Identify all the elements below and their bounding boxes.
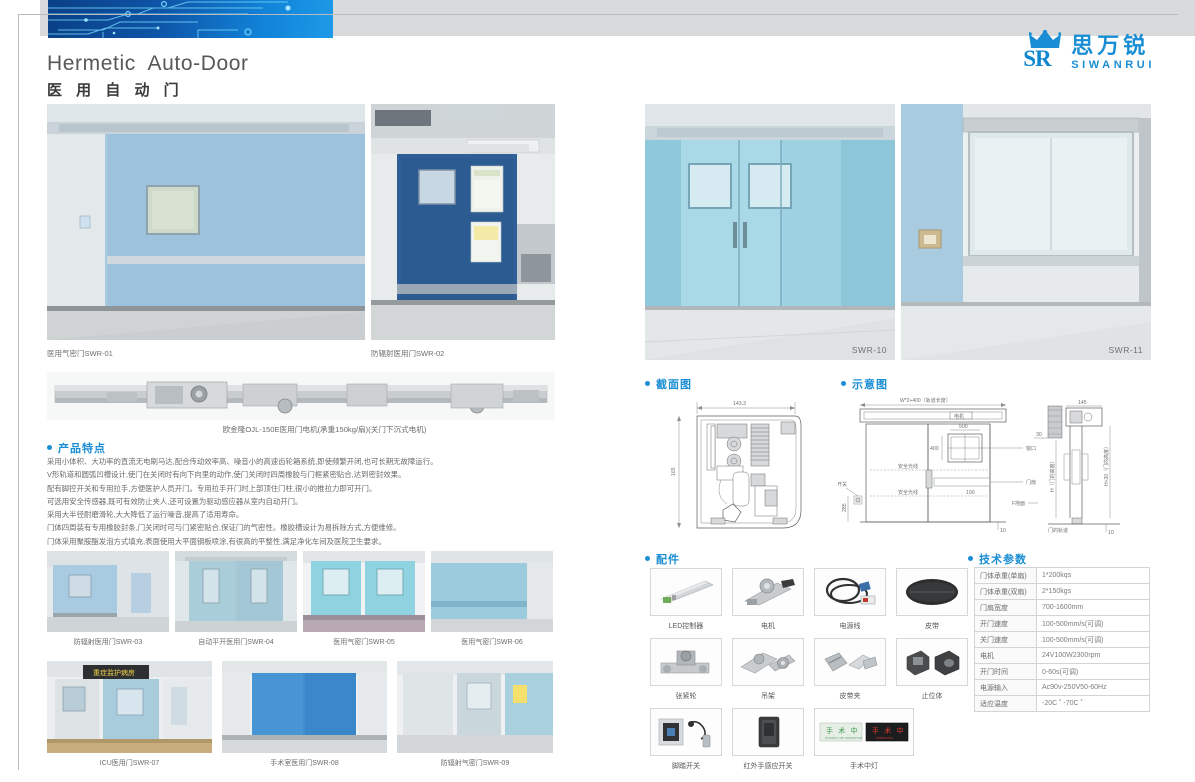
spec-value: -20C ˚ -70C ˚ — [1037, 696, 1150, 712]
photo-caption-swr-06: 医用气密门SWR-06 — [431, 637, 553, 647]
floor-groove-label: F地面 — [1012, 500, 1025, 507]
accessory-item-operating-lamp: 手 术 中 DURING THE OPERATION 手 术 中 OPERATI… — [814, 708, 914, 771]
accessory-item-power-cable: 电源线 — [814, 568, 886, 631]
tension-wheel-icon — [650, 638, 722, 686]
spec-value: Ac90v-250V50-60Hz — [1037, 680, 1150, 696]
detail-height-h: H（门的高度） — [1049, 458, 1056, 492]
operating-lamp-icon: 手 术 中 DURING THE OPERATION 手 术 中 OPERATI… — [814, 708, 914, 756]
spec-key: 适应温度 — [975, 696, 1037, 712]
accessory-item-motor: 电机 — [732, 568, 804, 631]
page-title-chinese: 医 用 自 动 门 — [47, 79, 184, 100]
dim-width-label: 143.3 — [733, 401, 746, 407]
logo-name-chinese: 思万锐 — [1071, 35, 1155, 57]
features-list: 采用小体积、大功率的直流无电刷马达,配合传动效率高、噪音小的高速齿轮箱系统,即使… — [47, 455, 592, 548]
belt-clamp-icon — [814, 638, 886, 686]
hanger-icon — [732, 638, 804, 686]
dim-500: 500 — [959, 424, 968, 430]
track-length-label: W*2+400（轨道长度） — [900, 397, 951, 404]
spec-value: 24V100W2300rpm — [1037, 648, 1150, 664]
lamp-red-sub: OPERATING — [876, 736, 894, 740]
motor-caption: 欧金隆OJL-150E医用门电机(承重150kg/扇)(关门下沉式电机) — [47, 424, 602, 435]
detail-dim-10: 10 — [1108, 530, 1114, 536]
accessory-item-foot-switch: 脚踏开关 — [650, 708, 722, 771]
door-panel-label: 门扇 — [1026, 479, 1036, 486]
accessory-label: 张紧轮 — [650, 691, 722, 701]
spec-key: 关门速度 — [975, 632, 1037, 648]
spec-value: 100-500mm/s(可调) — [1037, 616, 1150, 632]
photo-motor-assembly — [47, 372, 555, 420]
table-row: 门体承重(双扇) 2*150kgs — [975, 584, 1150, 600]
foot-sensor-label: 脚感应开关 — [838, 481, 847, 488]
photo-caption-swr-04: 自动平开医用门SWR-04 — [175, 637, 297, 647]
circuit-pattern-graphic — [48, 0, 333, 38]
accessories-heading: 配件 — [645, 551, 680, 567]
accessory-item-belt-clamp: 皮带夹 — [814, 638, 886, 701]
accessory-label: 红外手感应开关 — [732, 761, 804, 771]
accessory-item-belt: 皮带 — [896, 568, 968, 631]
spec-value: 100-500mm/s(可调) — [1037, 632, 1150, 648]
feature-line: 配有脚控开关和专用拉手,方便医护人员开门。专用拉手开门时上部顶住门柱,很小的推拉… — [47, 482, 592, 495]
dim-height-label: 165 — [671, 467, 677, 476]
features-heading: 产品特点 — [47, 440, 106, 456]
svg-text:重症监护病房: 重症监护病房 — [93, 668, 135, 677]
spec-key: 开门时间 — [975, 664, 1037, 680]
photo-swr-02 — [371, 104, 555, 340]
photo-caption-swr-03: 防辐射医用门SWR-03 — [47, 637, 169, 647]
section-drawing-heading: 截面图 — [645, 376, 692, 392]
photo-swr-04 — [175, 551, 297, 632]
feature-line: 采用小体积、大功率的直流无电刷马达,配合传动效率高、噪音小的高速齿轮箱系统,即使… — [47, 455, 592, 468]
logo-name-pinyin: SIWANRUI — [1071, 60, 1155, 71]
schematic-drawing-heading: 示意图 — [841, 376, 888, 392]
spec-key: 电机 — [975, 648, 1037, 664]
photo-caption-swr-05: 医用气密门SWR-05 — [303, 637, 425, 647]
photo-caption-swr-09: 防辐射气密门SWR-09 — [397, 758, 553, 768]
spec-value: 700-1600mm — [1037, 600, 1150, 616]
motor-icon — [732, 568, 804, 616]
photo-caption-swr-07: ICU医用门SWR-07 — [47, 758, 212, 768]
schematic-drawing: W*2+400（轨道长度） 电机 500 400 窗口 门扇 190 安全光线 … — [838, 392, 1158, 542]
accessory-label: LED控制器 — [650, 621, 722, 631]
table-row: 开门时间 0-60s(可调) — [975, 664, 1150, 680]
photo-swr-06 — [431, 551, 553, 632]
top-decorative-band — [0, 0, 1195, 38]
accessory-label: 手术中灯 — [814, 761, 914, 771]
accessory-label: 皮带夹 — [814, 691, 886, 701]
company-logo: SR 思万锐 SIWANRUI — [1023, 30, 1155, 72]
table-row: 电源输入 Ac90v-250V50-60Hz — [975, 680, 1150, 696]
specs-table: 门体承重(单扇) 1*200kqs 门体承重(双扇) 2*150kgs 门扇宽度… — [974, 567, 1150, 712]
photo-swr-05 — [303, 551, 425, 632]
photo-swr-10: SWR-10 — [645, 104, 895, 360]
table-row: 门体承重(单扇) 1*200kqs — [975, 568, 1150, 584]
infrared-switch-icon — [732, 708, 804, 756]
table-row: 门扇宽度 700-1600mm — [975, 600, 1150, 616]
spec-key: 门扇宽度 — [975, 600, 1037, 616]
spec-key: 门体承重(单扇) — [975, 568, 1037, 584]
accessory-label: 电机 — [732, 621, 804, 631]
spec-key: 电源输入 — [975, 680, 1037, 696]
page-title-english: Hermetic Auto-Door — [47, 52, 249, 76]
table-row: 开门速度 100-500mm/s(可调) — [975, 616, 1150, 632]
photo-caption-swr-02: 防辐射医用门SWR-02 — [371, 348, 444, 359]
spec-value: 1*200kqs — [1037, 568, 1150, 584]
dim-10: 10 — [1000, 528, 1006, 534]
accessory-label: 吊架 — [732, 691, 804, 701]
power-cable-icon — [814, 568, 886, 616]
detail-height-h30: H+30（门的高度） — [1103, 444, 1110, 486]
photo-swr-01 — [47, 104, 365, 340]
feature-line: 采用大半径耐磨滑轮,大大降低了运行噪音,提高了适用寿命。 — [47, 508, 592, 521]
photo-swr-07: 重症监护病房 — [47, 661, 212, 753]
feature-line: 门体采用聚胺酯发泡方式填充,表面使用大平面钢板喷涂,有很高的平整性,满足净化车间… — [47, 535, 592, 548]
lamp-red-text: 手 术 中 — [872, 726, 905, 735]
foot-switch-icon — [650, 708, 722, 756]
feature-line: V形轨道和圆弧凹槽设计,使门在关闭时有向下向里的动作,使门关闭时四周橡胶与门框紧… — [47, 468, 592, 481]
detail-dim-145: 145 — [1078, 400, 1087, 406]
accessory-item-hanger: 吊架 — [732, 638, 804, 701]
accessory-label: 脚踏开关 — [650, 761, 722, 771]
lamp-green-text: 手 术 中 — [826, 726, 859, 735]
dim-190: 190 — [966, 490, 975, 496]
table-row: 适应温度 -20C ˚ -70C ˚ — [975, 696, 1150, 712]
accessory-label: 止位体 — [896, 691, 968, 701]
feature-line: 门体四周装有专用橡胶封条,门关闭时可与门紧密贴合,保证门的气密性。橡胶槽设计为易… — [47, 521, 592, 534]
safety-beam-label-2: 安全光线 — [898, 489, 918, 496]
spec-key: 开门速度 — [975, 616, 1037, 632]
photo-caption-swr-10: SWR-10 — [852, 345, 887, 355]
accessory-item-tension-wheel: 张紧轮 — [650, 638, 722, 701]
photo-swr-09 — [397, 661, 553, 753]
accessory-label: 皮带 — [896, 621, 968, 631]
spec-key: 门体承重(双扇) — [975, 584, 1037, 600]
spec-value: 0-60s(可调) — [1037, 664, 1150, 680]
motor-label: 电机 — [954, 413, 964, 420]
photo-caption-swr-11: SWR-11 — [1109, 345, 1144, 355]
spec-value: 2*150kgs — [1037, 584, 1150, 600]
dim-285: 285 — [842, 503, 848, 512]
logo-wordmark: 思万锐 SIWANRUI — [1071, 35, 1155, 72]
detail-dim-30: 30 — [1036, 432, 1042, 438]
table-row: 关门速度 100-500mm/s(可调) — [975, 632, 1150, 648]
accessory-item-stopper: 止位体 — [896, 638, 968, 701]
photo-swr-11: SWR-11 — [901, 104, 1151, 360]
dim-400: 400 — [930, 446, 939, 452]
safety-beam-label-1: 安全光线 — [898, 463, 918, 470]
specs-heading: 技术参数 — [968, 551, 1027, 567]
feature-line: 可选用安全传感器,既可有效防止夹人,还可设置为驱动感应器从室内自动开门。 — [47, 495, 592, 508]
stopper-icon — [896, 638, 968, 686]
photo-caption-swr-08: 手术室医用门SWR-08 — [222, 758, 387, 768]
accessory-item-infrared-switch: 红外手感应开关 — [732, 708, 804, 771]
photo-swr-03 — [47, 551, 169, 632]
photo-caption-swr-01: 医用气密门SWR-01 — [47, 348, 113, 359]
belt-icon — [896, 568, 968, 616]
cross-section-drawing: 143.3 165 — [655, 392, 820, 542]
window-label: 窗口 — [1026, 445, 1036, 452]
detail-track-label: 门的轨道 — [1048, 527, 1068, 534]
table-row: 电机 24V100W2300rpm — [975, 648, 1150, 664]
logo-mark: SR — [1023, 30, 1067, 72]
lamp-green-sub: DURING THE OPERATION — [825, 736, 862, 740]
led-controller-icon — [650, 568, 722, 616]
accessory-label: 电源线 — [814, 621, 886, 631]
logo-initials: SR — [1023, 46, 1050, 72]
accessory-item-led-controller: LED控制器 — [650, 568, 722, 631]
photo-swr-08 — [222, 661, 387, 753]
